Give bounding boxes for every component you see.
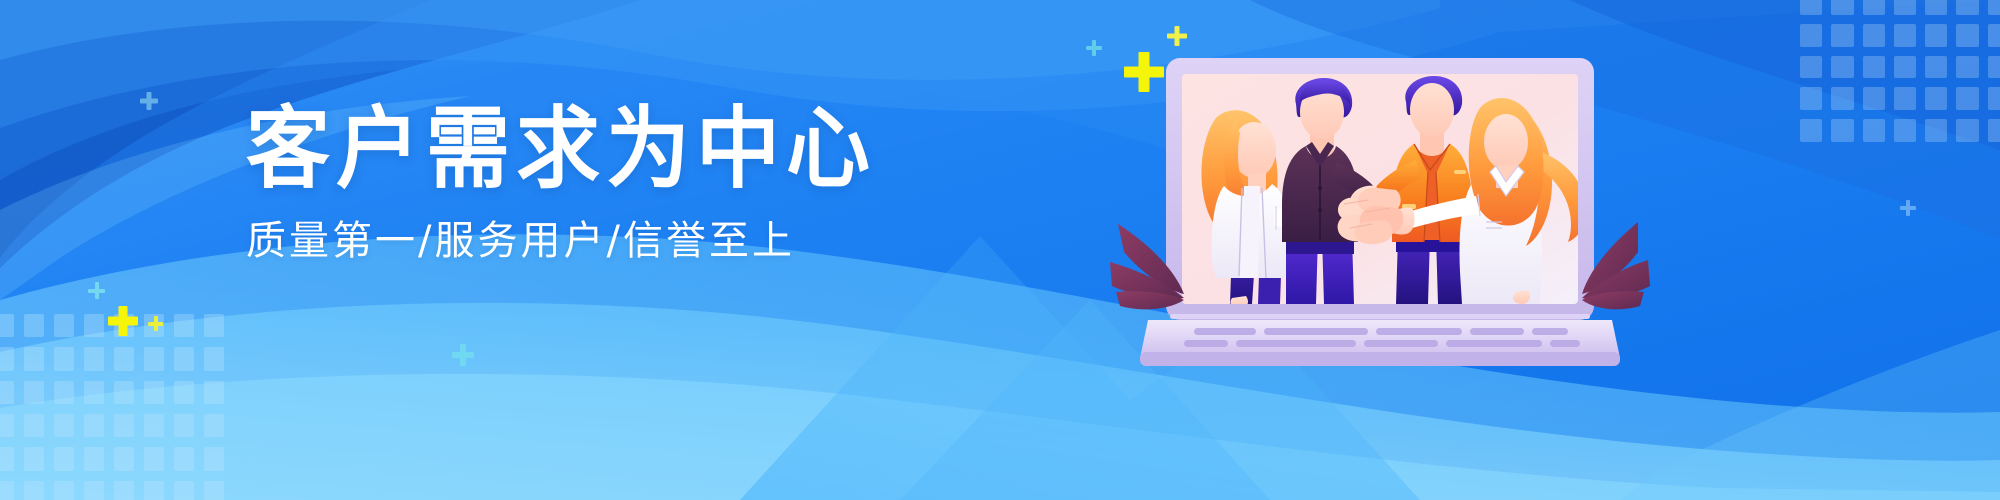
plus-icon-yellow-bottom bbox=[108, 306, 138, 336]
text-block: 客户需求为中心 质量第一/服务用户/信誉至上 bbox=[246, 104, 866, 264]
plus-icon-cyan-lower bbox=[452, 344, 474, 366]
plus-icon-cyan-left bbox=[140, 92, 158, 110]
headline-title: 客户需求为中心 bbox=[246, 104, 866, 195]
dot-grid-bottom-left bbox=[0, 314, 224, 500]
plus-icon-yellow-small bbox=[1167, 26, 1187, 46]
laptop-team-illustration bbox=[1140, 46, 1620, 376]
laptop-hinge bbox=[1170, 314, 1590, 319]
plus-icon-yellow-bottom-small bbox=[148, 316, 163, 331]
dot-grid-top-right bbox=[1800, 0, 2000, 142]
plus-icon-cyan-bottom bbox=[88, 282, 105, 299]
plus-icon-white-topright bbox=[1900, 200, 1916, 216]
plus-icon-cyan-small bbox=[1086, 40, 1102, 56]
promo-banner: 客户需求为中心 质量第一/服务用户/信誉至上 bbox=[0, 0, 2000, 500]
headline-subtitle: 质量第一/服务用户/信誉至上 bbox=[246, 218, 866, 264]
